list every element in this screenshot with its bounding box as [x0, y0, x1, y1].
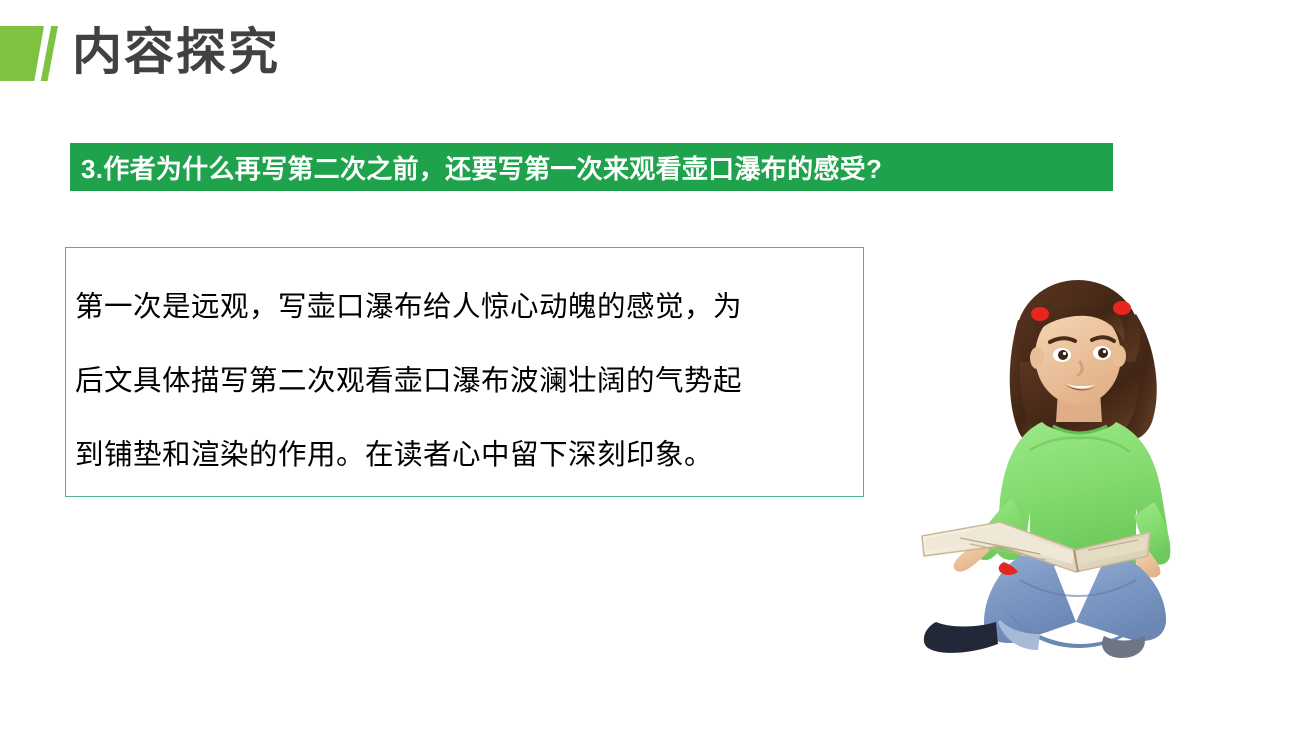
page-title: 内容探究: [72, 21, 280, 83]
accent-sliver: [40, 26, 58, 81]
slide-canvas: 内容探究 3.作者为什么再写第二次之前，还要写第一次来观看壶口瀑布的感受? 第一…: [0, 0, 1296, 729]
answer-line-3: 到铺垫和渲染的作用。在读者心中留下深刻印象。: [75, 418, 857, 492]
header-accent-shape: [0, 26, 58, 81]
answer-line-1: 第一次是远观，写壶口瀑布给人惊心动魄的感觉，为: [75, 270, 857, 344]
answer-text: 第一次是远观，写壶口瀑布给人惊心动魄的感觉，为 后文具体描写第二次观看壶口瀑布波…: [75, 270, 857, 492]
question-text: 3.作者为什么再写第二次之前，还要写第一次来观看壶口瀑布的感受?: [70, 149, 882, 186]
answer-line-2: 后文具体描写第二次观看壶口瀑布波澜壮阔的气势起: [75, 344, 857, 418]
girl-reading-photo: [900, 250, 1240, 670]
hair-tie-left: [1031, 307, 1049, 321]
question-banner: 3.作者为什么再写第二次之前，还要写第一次来观看壶口瀑布的感受?: [70, 143, 1113, 191]
accent-parallelogram: [0, 26, 44, 81]
answer-box: 第一次是远观，写壶口瀑布给人惊心动魄的感觉，为 后文具体描写第二次观看壶口瀑布波…: [65, 247, 864, 497]
hair-tie-right: [1113, 301, 1131, 315]
